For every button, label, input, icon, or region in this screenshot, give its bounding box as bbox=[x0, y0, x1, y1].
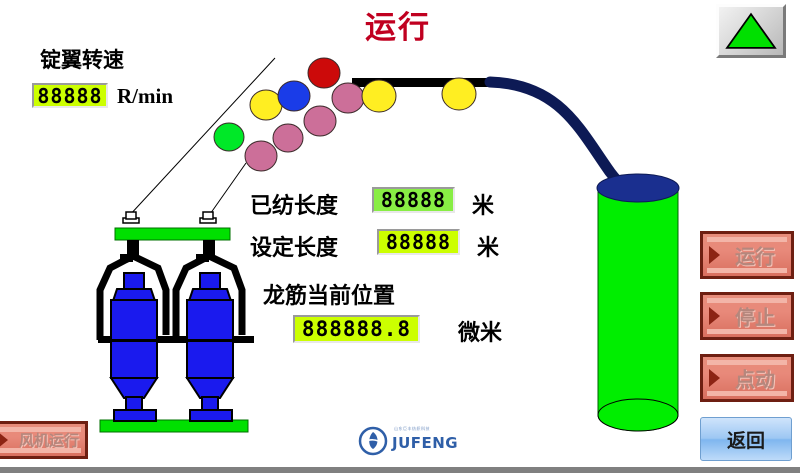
package-indicator-0 bbox=[214, 123, 244, 151]
stop-button[interactable]: 停止 bbox=[700, 292, 794, 340]
bobbin-right-lower bbox=[187, 341, 233, 378]
package-indicator-9 bbox=[442, 78, 476, 110]
bobbin-left-neck bbox=[124, 273, 144, 289]
logo-wordmark: JUFENG bbox=[392, 434, 458, 452]
bobbin-right-taper bbox=[187, 378, 233, 398]
bobbin-right-stem bbox=[202, 397, 218, 411]
rail-bolt-right bbox=[200, 212, 216, 223]
fan-run-button-label: 风机运行 bbox=[17, 430, 81, 451]
bobbin-right-neck bbox=[200, 273, 220, 289]
triangle-up-icon bbox=[719, 7, 783, 55]
unit-set-length: 米 bbox=[477, 230, 499, 262]
page-title: 运行 bbox=[318, 2, 478, 47]
label-spun-length: 已纺长度 bbox=[250, 188, 338, 220]
package-indicator-7 bbox=[332, 83, 364, 113]
fan-run-button[interactable]: 风机运行 bbox=[0, 421, 88, 459]
package-indicator-1 bbox=[250, 90, 282, 120]
unit-spun-length: 米 bbox=[472, 188, 494, 220]
unit-spindle-speed: R/min bbox=[117, 84, 173, 109]
jog-button-label: 点动 bbox=[723, 364, 787, 393]
arrow-right-icon bbox=[709, 307, 720, 325]
run-button[interactable]: 运行 bbox=[700, 231, 794, 279]
value-beam-position[interactable]: 888888.8 bbox=[293, 315, 420, 343]
bobbin-left-upper bbox=[111, 300, 157, 340]
can-body bbox=[598, 190, 678, 431]
package-indicator-6 bbox=[304, 106, 336, 136]
swirl-circle-icon bbox=[358, 426, 390, 456]
value-spindle-speed[interactable]: 88888 bbox=[32, 83, 108, 108]
bobbin-left-taper bbox=[111, 378, 157, 398]
stop-button-label: 停止 bbox=[723, 302, 787, 331]
label-beam-position: 龙筋当前位置 bbox=[263, 278, 395, 310]
bobbin-left-lower bbox=[111, 341, 157, 378]
flyer-left bbox=[98, 240, 178, 421]
bottom-divider bbox=[0, 467, 800, 473]
arrow-right-icon bbox=[709, 369, 720, 387]
up-triangle-button[interactable] bbox=[716, 4, 786, 58]
package-indicator-2 bbox=[278, 81, 310, 111]
hmi-screen: 运行 锭翼转速 88888 R/min 已纺长度 88888 米 设定长度 88… bbox=[0, 0, 800, 473]
unit-beam-position: 微米 bbox=[458, 315, 502, 347]
arrow-right-icon bbox=[0, 431, 8, 449]
bobbin-left-stem bbox=[126, 397, 142, 411]
logo-subtext: 山东巨丰纺织科技 bbox=[394, 426, 430, 432]
bobbin-right-base bbox=[190, 410, 232, 421]
package-indicator-8 bbox=[362, 80, 396, 112]
bobbin-right-upper bbox=[187, 300, 233, 340]
package-indicator-5 bbox=[273, 124, 303, 152]
arrow-right-icon bbox=[709, 246, 720, 264]
guide-line-right bbox=[208, 163, 246, 217]
flyer-right bbox=[174, 240, 254, 421]
package-indicator-4 bbox=[245, 141, 277, 171]
rail-bolt-left bbox=[123, 212, 139, 223]
value-set-length[interactable]: 88888 bbox=[377, 229, 460, 255]
label-set-length: 设定长度 bbox=[250, 230, 338, 262]
can-bottom-ellipse bbox=[598, 399, 678, 431]
package-indicator-3 bbox=[308, 58, 340, 88]
value-spun-length[interactable]: 88888 bbox=[372, 187, 455, 213]
bobbin-left-base bbox=[114, 410, 156, 421]
package-indicator-group bbox=[214, 58, 476, 171]
can-top-ellipse bbox=[597, 174, 679, 202]
rail-top bbox=[115, 228, 230, 240]
return-button-label: 返回 bbox=[727, 426, 765, 453]
company-logo: 山东巨丰纺织科技 JUFENG bbox=[358, 424, 462, 456]
jog-button[interactable]: 点动 bbox=[700, 354, 794, 402]
run-button-label: 运行 bbox=[723, 241, 787, 270]
return-button[interactable]: 返回 bbox=[700, 417, 792, 461]
label-spindle-speed: 锭翼转速 bbox=[40, 44, 124, 74]
